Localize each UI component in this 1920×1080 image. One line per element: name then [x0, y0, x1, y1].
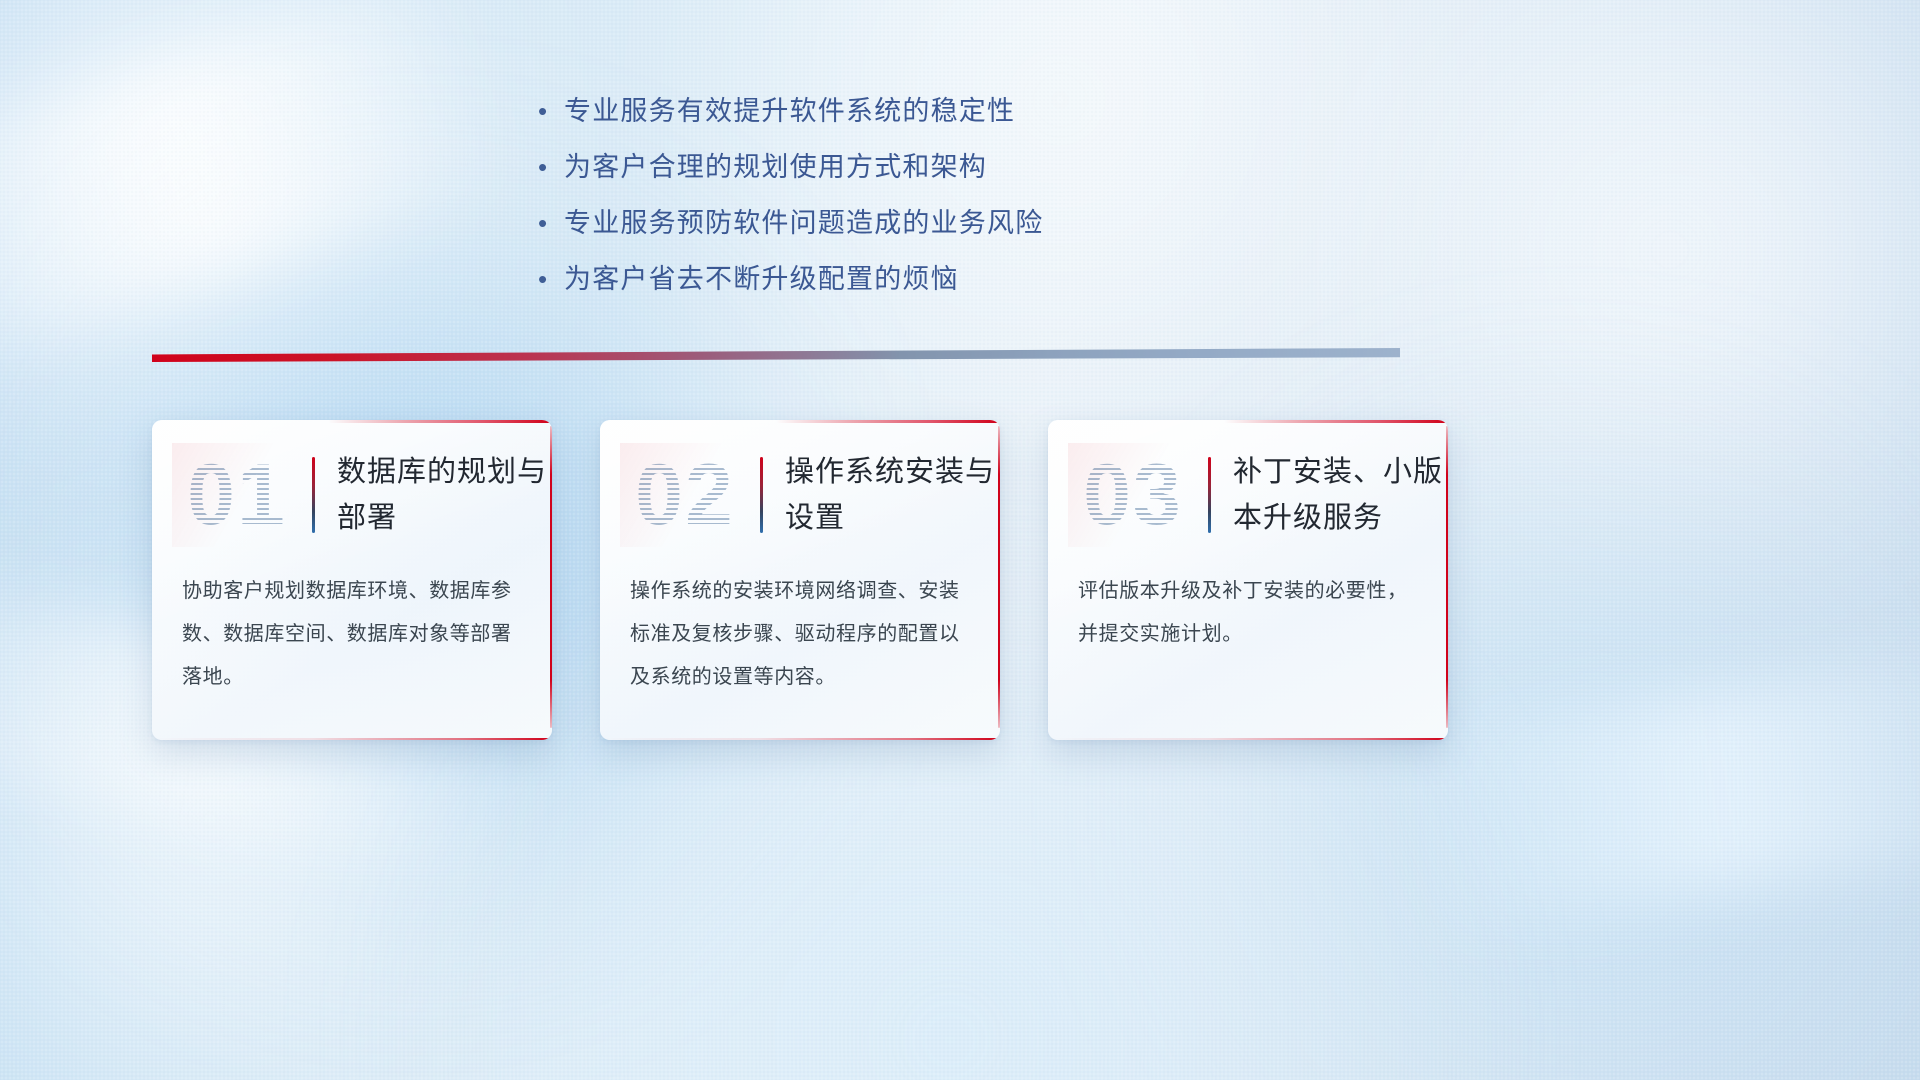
- card-header: 03 补丁安装、小版本升级服务: [1048, 420, 1448, 570]
- bullet-dot-icon: •: [538, 204, 564, 242]
- card-number-wrap: 02: [620, 443, 750, 547]
- card-number-wrap: 01: [172, 443, 302, 547]
- bullet-dot-icon: •: [538, 92, 564, 130]
- card-bottom-accent: [1050, 738, 1446, 741]
- card-title: 数据库的规划与部署: [337, 449, 552, 541]
- divider-bar: [152, 348, 1400, 362]
- card-number: 02: [620, 443, 750, 547]
- card-header: 02 操作系统安装与设置: [600, 420, 1000, 570]
- card-number: 01: [172, 443, 302, 547]
- service-card[interactable]: 02 操作系统安装与设置 操作系统的安装环境网络调查、安装标准及复核步骤、驱动程…: [600, 420, 1000, 740]
- bullet-text: 为客户合理的规划使用方式和架构: [564, 148, 987, 186]
- card-header: 01 数据库的规划与部署: [152, 420, 552, 570]
- card-bottom-accent: [602, 738, 998, 741]
- card-title: 操作系统安装与设置: [785, 449, 1000, 541]
- feature-bullet-list: • 专业服务有效提升软件系统的稳定性 • 为客户合理的规划使用方式和架构 • 专…: [538, 92, 1178, 316]
- card-number-wrap: 03: [1068, 443, 1198, 547]
- service-card[interactable]: 03 补丁安装、小版本升级服务 评估版本升级及补丁安装的必要性，并提交实施计划。: [1048, 420, 1448, 740]
- card-body-text: 操作系统的安装环境网络调查、安装标准及复核步骤、驱动程序的配置以及系统的设置等内…: [600, 570, 1000, 699]
- section-divider: [152, 348, 1400, 362]
- card-title: 补丁安装、小版本升级服务: [1233, 449, 1448, 541]
- bullet-dot-icon: •: [538, 260, 564, 298]
- card-body-text: 评估版本升级及补丁安装的必要性，并提交实施计划。: [1048, 570, 1448, 656]
- card-title-accent-bar: [760, 457, 763, 533]
- list-item: • 专业服务有效提升软件系统的稳定性: [538, 92, 1178, 130]
- list-item: • 为客户合理的规划使用方式和架构: [538, 148, 1178, 186]
- service-card[interactable]: 01 数据库的规划与部署 协助客户规划数据库环境、数据库参数、数据库空间、数据库…: [152, 420, 552, 740]
- card-bottom-accent: [154, 738, 550, 741]
- card-title-accent-bar: [312, 457, 315, 533]
- bullet-text: 为客户省去不断升级配置的烦恼: [564, 260, 959, 298]
- card-number: 03: [1068, 443, 1198, 547]
- bullet-text: 专业服务预防软件问题造成的业务风险: [564, 204, 1043, 242]
- list-item: • 专业服务预防软件问题造成的业务风险: [538, 204, 1178, 242]
- list-item: • 为客户省去不断升级配置的烦恼: [538, 260, 1178, 298]
- card-body-text: 协助客户规划数据库环境、数据库参数、数据库空间、数据库对象等部署落地。: [152, 570, 552, 699]
- card-title-accent-bar: [1208, 457, 1211, 533]
- bullet-dot-icon: •: [538, 148, 564, 186]
- bullet-text: 专业服务有效提升软件系统的稳定性: [564, 92, 1015, 130]
- service-card-group: 01 数据库的规划与部署 协助客户规划数据库环境、数据库参数、数据库空间、数据库…: [152, 420, 1448, 740]
